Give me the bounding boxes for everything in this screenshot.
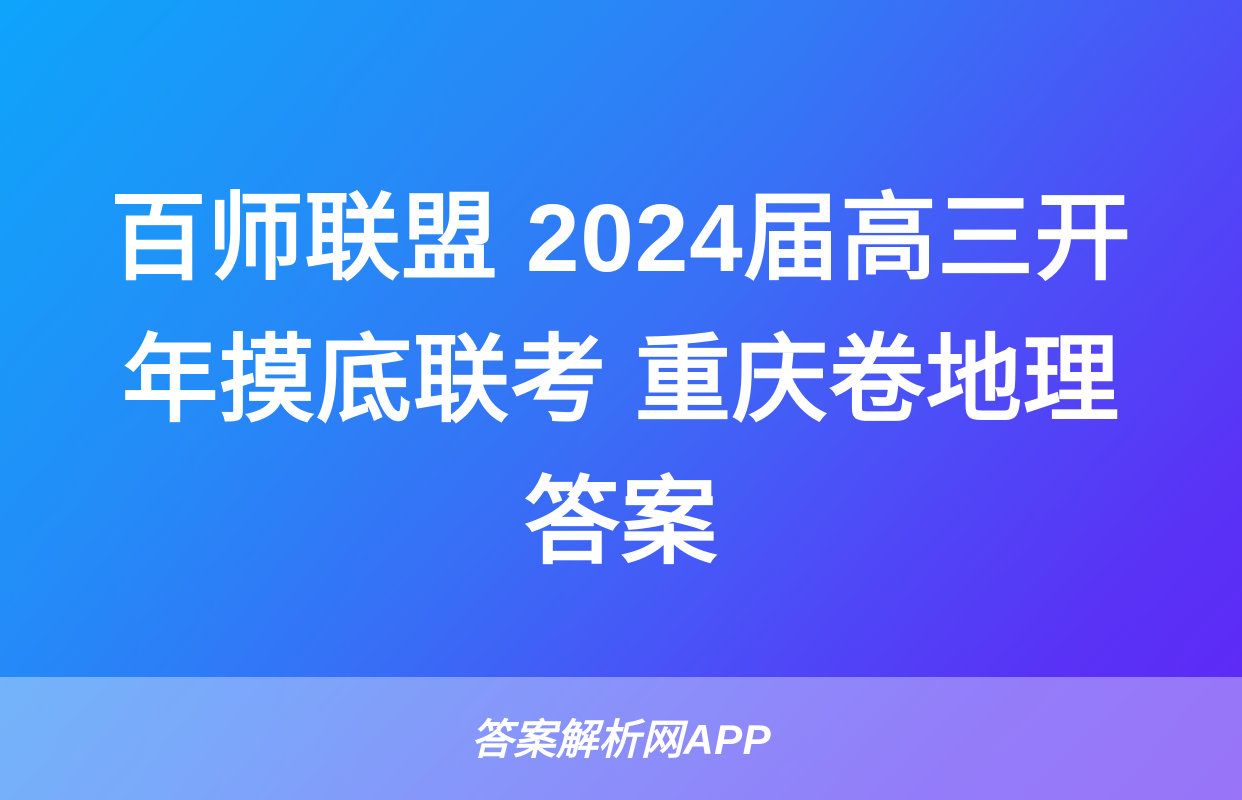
title-line-2: 年摸底联考 重庆卷地理 [70, 310, 1172, 452]
title-line-3: 答案 [70, 452, 1172, 594]
poster-card: 百师联盟 2024届高三开 年摸底联考 重庆卷地理 答案 答案解析网APP [0, 0, 1242, 800]
page-title: 百师联盟 2024届高三开 年摸底联考 重庆卷地理 答案 [0, 168, 1242, 594]
app-watermark-label: 答案解析网APP [471, 719, 771, 761]
footer-watermark-band: 答案解析网APP [0, 677, 1242, 800]
title-line-1: 百师联盟 2024届高三开 [70, 168, 1172, 310]
